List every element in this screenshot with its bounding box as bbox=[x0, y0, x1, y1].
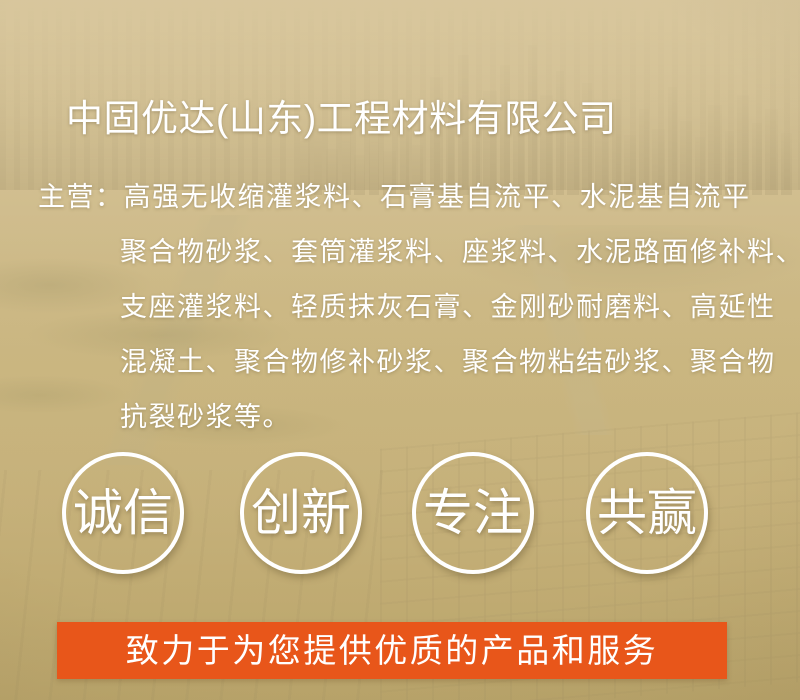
product-line-1: 主营：高强无收缩灌浆料、石膏基自流平、水泥基自流平 bbox=[38, 170, 778, 225]
slogan-text: 致力于为您提供优质的产品和服务 bbox=[126, 631, 659, 671]
product-line-text: 抗裂砂浆等。 bbox=[120, 390, 291, 445]
value-badge-focus: 专注 bbox=[412, 452, 534, 574]
product-line-text: 聚合物砂浆、套筒灌浆料、座浆料、水泥路面修补料、 bbox=[120, 225, 800, 280]
product-list: 主营：高强无收缩灌浆料、石膏基自流平、水泥基自流平 聚合物砂浆、套筒灌浆料、座浆… bbox=[38, 170, 778, 445]
company-title: 中固优达(山东)工程材料有限公司 bbox=[66, 97, 617, 141]
value-badge-label: 创新 bbox=[251, 485, 351, 541]
product-list-label: 主营： bbox=[38, 170, 124, 225]
product-line-text: 支座灌浆料、轻质抹灰石膏、金刚砂耐磨料、高延性 bbox=[120, 280, 776, 335]
value-badge-winwin: 共赢 bbox=[586, 452, 708, 574]
promo-banner: 中固优达(山东)工程材料有限公司 主营：高强无收缩灌浆料、石膏基自流平、水泥基自… bbox=[0, 0, 800, 700]
value-badge-integrity: 诚信 bbox=[62, 452, 184, 574]
product-line-text: 混凝土、聚合物修补砂浆、聚合物粘结砂浆、聚合物 bbox=[120, 335, 776, 390]
content-layer: 中固优达(山东)工程材料有限公司 主营：高强无收缩灌浆料、石膏基自流平、水泥基自… bbox=[0, 0, 800, 700]
value-badge-label: 共赢 bbox=[597, 485, 697, 541]
product-line-3: 支座灌浆料、轻质抹灰石膏、金刚砂耐磨料、高延性 bbox=[38, 280, 778, 335]
product-line-4: 混凝土、聚合物修补砂浆、聚合物粘结砂浆、聚合物 bbox=[38, 335, 778, 390]
value-badge-label: 专注 bbox=[423, 485, 523, 541]
product-line-5: 抗裂砂浆等。 bbox=[38, 390, 778, 445]
product-line-2: 聚合物砂浆、套筒灌浆料、座浆料、水泥路面修补料、 bbox=[38, 225, 778, 280]
value-badge-innovation: 创新 bbox=[240, 452, 362, 574]
slogan-banner: 致力于为您提供优质的产品和服务 bbox=[57, 622, 727, 679]
value-badges: 诚信 创新 专注 共赢 bbox=[62, 452, 742, 582]
value-badge-label: 诚信 bbox=[73, 485, 173, 541]
product-line-text: 高强无收缩灌浆料、石膏基自流平、水泥基自流平 bbox=[124, 170, 751, 225]
